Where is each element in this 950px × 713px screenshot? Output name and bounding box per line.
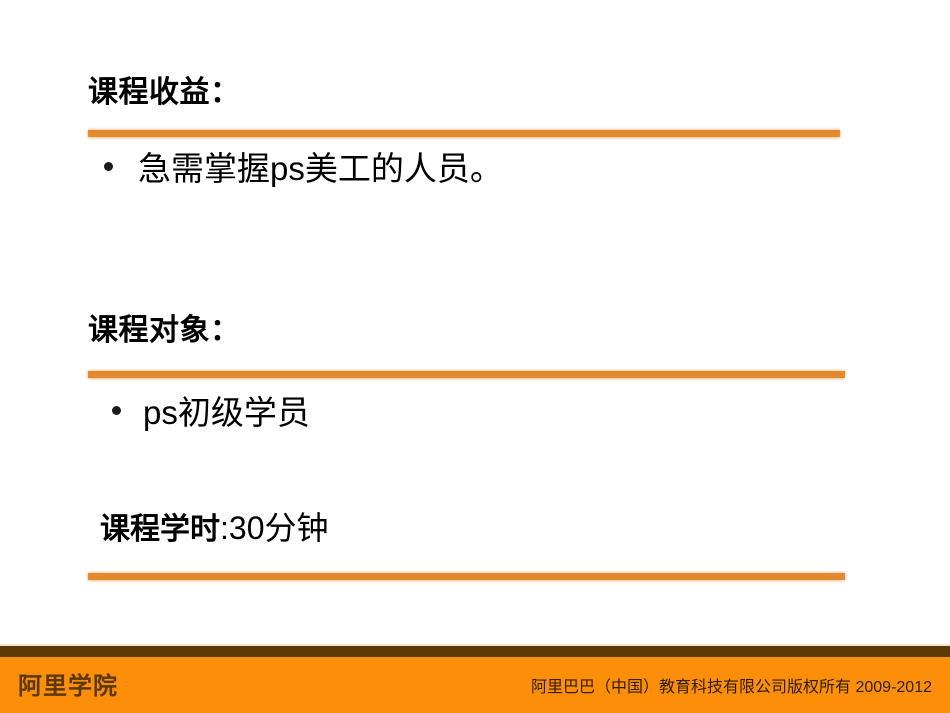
course-hours-label: 课程学时 <box>100 513 220 546</box>
divider-rule-2 <box>88 371 845 378</box>
bullet-text-benefit: 急需掌握ps美工的人员。 <box>138 152 503 185</box>
course-hours-value: :30分钟 <box>220 510 329 546</box>
footer-logo: 阿里学院 <box>18 675 118 699</box>
course-hours-line: 课程学时:30分钟 <box>100 512 329 545</box>
list-item: 急需掌握ps美工的人员。 <box>104 152 503 185</box>
presentation-slide: 课程收益： 急需掌握ps美工的人员。 课程对象： ps初级学员 课程学时:30分… <box>0 0 950 713</box>
bullet-dot-icon <box>112 406 121 415</box>
list-item: ps初级学员 <box>112 396 310 429</box>
divider-rule-3 <box>88 573 845 580</box>
divider-rule-1 <box>88 130 840 137</box>
section-heading-benefit: 课程收益： <box>88 78 241 108</box>
section-heading-audience: 课程对象： <box>88 316 241 346</box>
footer-copyright: 阿里巴巴（中国）教育科技有限公司版权所有 2009-2012 <box>531 680 932 696</box>
slide-content: 课程收益： 急需掌握ps美工的人员。 课程对象： ps初级学员 课程学时:30分… <box>0 0 950 636</box>
bullet-text-audience: ps初级学员 <box>143 396 310 429</box>
slide-footer: 阿里学院 阿里巴巴（中国）教育科技有限公司版权所有 2009-2012 <box>0 644 950 713</box>
footer-top-stripe <box>0 646 950 657</box>
bullet-dot-icon <box>104 162 113 171</box>
footer-bar: 阿里学院 阿里巴巴（中国）教育科技有限公司版权所有 2009-2012 <box>0 657 950 713</box>
